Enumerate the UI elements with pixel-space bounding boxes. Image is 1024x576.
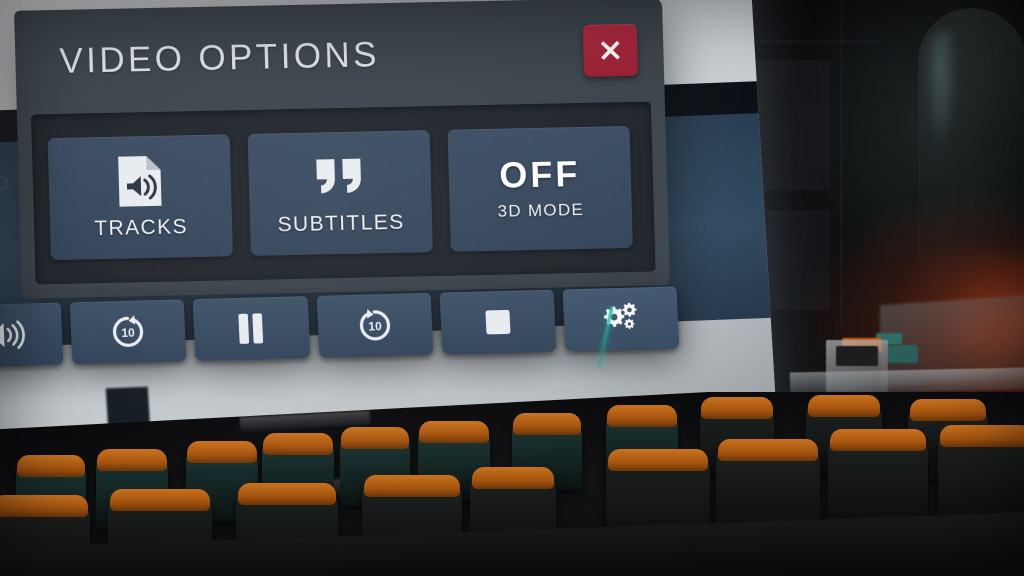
three-d-mode-button[interactable]: OFF 3D MODE — [448, 126, 633, 252]
archway-glow — [925, 30, 957, 150]
video-options-dialog: VIDEO OPTIONS — [14, 0, 670, 299]
seat — [828, 438, 928, 520]
ledge-object-teal — [888, 345, 918, 363]
seat — [716, 448, 820, 530]
volume-button[interactable] — [0, 303, 64, 368]
seat — [938, 434, 1024, 516]
close-button[interactable] — [583, 24, 638, 77]
quote-icon — [312, 149, 367, 204]
svg-text:10: 10 — [368, 319, 382, 333]
rewind-10-button[interactable]: 10 — [70, 299, 187, 364]
dialog-frame: VIDEO OPTIONS — [14, 0, 670, 299]
page-title: VIDEO OPTIONS — [59, 31, 584, 82]
three-d-mode-label: 3D MODE — [497, 200, 584, 222]
rewind-10-icon: 10 — [109, 313, 147, 350]
forward-10-button[interactable]: 10 — [316, 293, 433, 358]
subtitles-label: SUBTITLES — [277, 211, 405, 238]
audio-file-icon — [116, 154, 163, 209]
dialog-header: VIDEO OPTIONS — [14, 0, 665, 115]
three-d-mode-value: OFF — [499, 156, 581, 194]
stop-icon — [484, 309, 511, 336]
svg-text:10: 10 — [121, 326, 135, 340]
vr-cinema-scene: 0:0 VIDEO OPTIONS — [0, 0, 1024, 576]
tracks-button[interactable]: TRACKS — [48, 134, 233, 260]
pause-button[interactable] — [193, 296, 310, 361]
theater-seats — [0, 392, 1024, 576]
dialog-options-row: TRACKS SUBTITLES OFF 3D MODE — [31, 102, 656, 285]
close-icon — [598, 38, 623, 62]
wall-seam — [840, 0, 843, 330]
tracks-label: TRACKS — [94, 215, 188, 241]
pause-icon — [237, 312, 266, 345]
wall-panel — [760, 210, 830, 310]
subtitles-button[interactable]: SUBTITLES — [248, 130, 433, 256]
cup-holder-opening — [836, 346, 878, 366]
settings-button[interactable] — [562, 286, 679, 351]
forward-10-icon: 10 — [356, 307, 394, 344]
stop-button[interactable] — [439, 290, 556, 355]
volume-icon — [0, 320, 26, 351]
wall-seam — [760, 40, 880, 43]
